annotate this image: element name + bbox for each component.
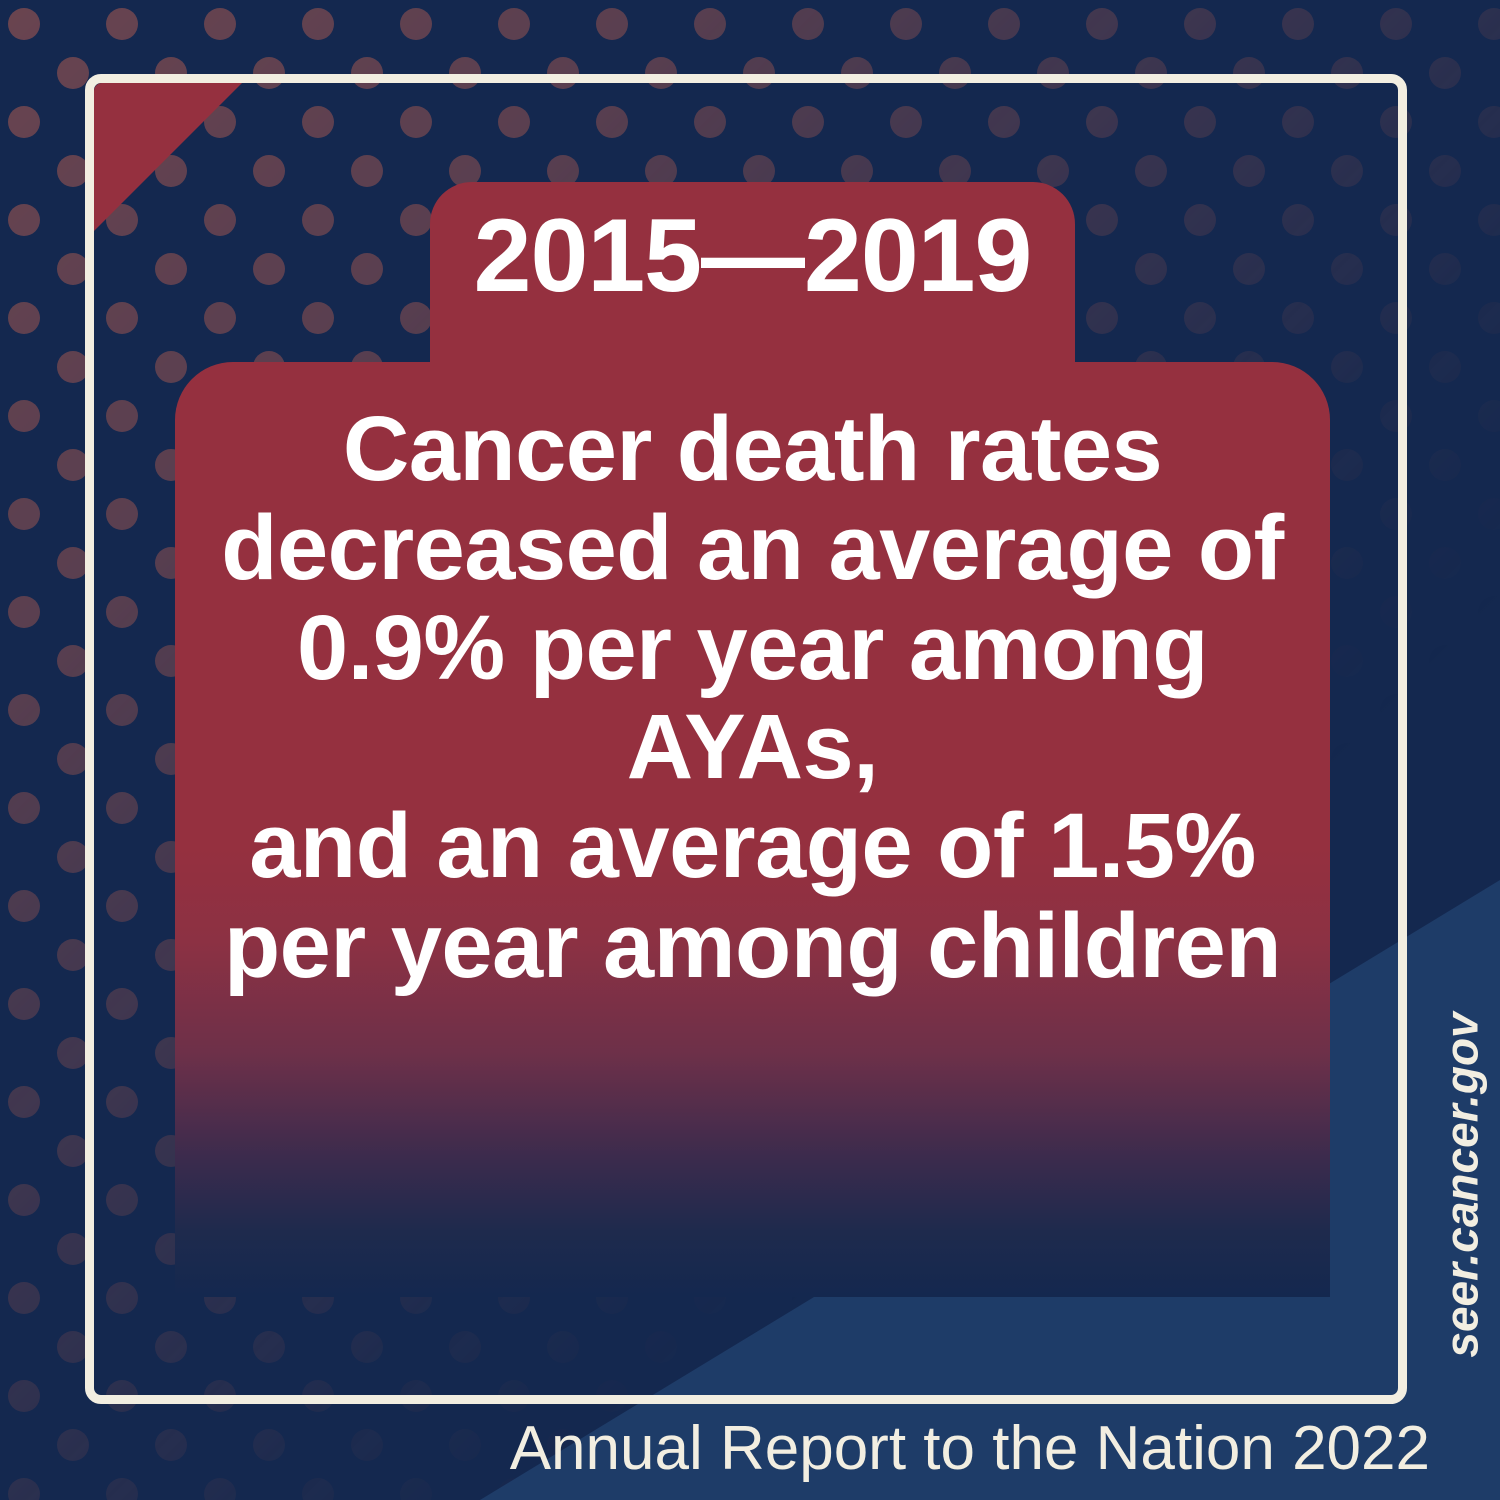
year-range-card: 2015—2019 bbox=[430, 182, 1075, 387]
value-aya: 0.9% bbox=[297, 597, 505, 699]
statement-line-5: per year among children bbox=[221, 897, 1284, 996]
corner-triangle-accent bbox=[94, 83, 242, 231]
infographic-canvas: 2015—2019 Cancer death rates decreased a… bbox=[0, 0, 1500, 1500]
statement-line-4-lead: and an average of bbox=[249, 795, 1048, 897]
statement-line-3-rest: per year among AYAs, bbox=[505, 597, 1208, 798]
value-children: 1.5% bbox=[1048, 795, 1256, 897]
statistic-statement: Cancer death rates decreased an average … bbox=[175, 400, 1330, 996]
statement-line-2: decreased an average of bbox=[221, 499, 1284, 598]
statistic-card: Cancer death rates decreased an average … bbox=[175, 362, 1330, 1297]
site-url-label: seer.cancer.gov bbox=[1435, 1012, 1489, 1357]
report-title: Annual Report to the Nation 2022 bbox=[0, 1413, 1430, 1484]
group-of-people-icon bbox=[851, 1292, 1330, 1297]
site-url-vertical[interactable]: seer.cancer.gov bbox=[1432, 985, 1492, 1385]
statement-line-4: and an average of 1.5% bbox=[221, 797, 1284, 896]
statement-line-3: 0.9% per year among AYAs, bbox=[221, 599, 1284, 798]
year-range-label: 2015—2019 bbox=[474, 204, 1032, 308]
statement-line-1: Cancer death rates bbox=[221, 400, 1284, 499]
